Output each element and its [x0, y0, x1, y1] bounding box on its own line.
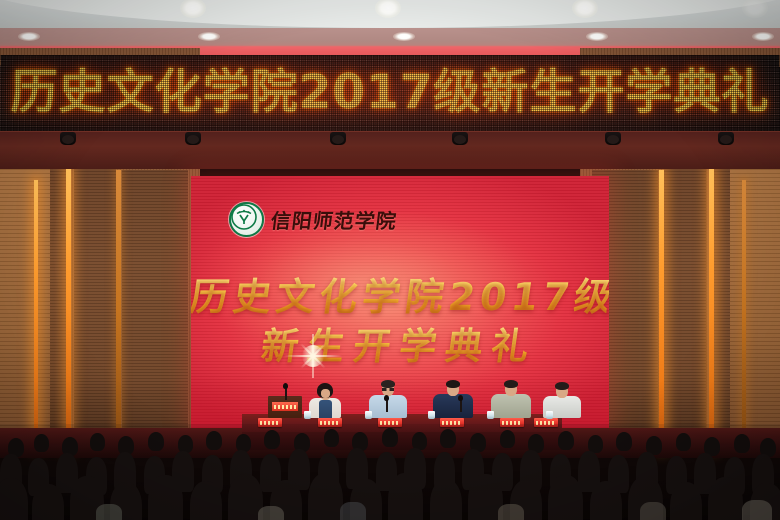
audience-head	[90, 433, 105, 451]
stage-spotlight-icon	[718, 132, 734, 145]
stage-spotlight-icon	[605, 132, 621, 145]
ceiling-downlight-icon	[198, 32, 220, 41]
audience-head	[0, 478, 28, 520]
backdrop-title-line1: 历史文化学院2017级	[191, 266, 609, 321]
wall-light-strip	[66, 168, 71, 450]
audience-head	[734, 434, 750, 453]
university-emblem-icon	[229, 202, 264, 237]
banner-support-beam	[0, 131, 780, 169]
audience-head	[264, 430, 280, 449]
eyeglasses-icon	[382, 388, 394, 391]
wall-light-strip	[116, 170, 121, 450]
ceiling-downlight-icon	[586, 32, 608, 41]
water-cup	[304, 411, 311, 419]
institution-name: 信阳师范学院	[269, 205, 399, 234]
audience-shoulder	[340, 502, 366, 520]
panel-member-4	[490, 378, 532, 418]
audience-head	[430, 479, 462, 520]
audience-head	[148, 475, 183, 520]
stage-spotlight-icon	[60, 132, 76, 145]
audience-head	[676, 433, 691, 451]
microphone-icon	[386, 399, 388, 412]
ceiling-downlight-icon	[18, 32, 40, 41]
panel-member-hair	[555, 382, 569, 390]
microphone-icon	[460, 399, 462, 412]
audience-head	[324, 429, 339, 447]
stage-spotlight-icon	[185, 132, 201, 145]
wall-panel	[122, 170, 188, 448]
audience-head	[388, 473, 423, 520]
panel-member-hair	[504, 380, 518, 388]
audience-head	[616, 432, 632, 451]
water-cup	[487, 411, 494, 419]
wall-light-strip	[659, 170, 664, 450]
audience-head	[34, 434, 49, 452]
led-banner-text: 历史文化学院2017级新生开学典礼	[0, 63, 780, 123]
panel-member-3	[432, 378, 474, 418]
ceiling-downlight-icon	[393, 32, 415, 41]
audience-head	[708, 477, 743, 520]
audience-shoulder	[742, 500, 772, 520]
wall-panel	[664, 168, 706, 448]
wall-light-strip	[34, 180, 38, 448]
lectern-nameplate	[272, 402, 298, 411]
audience-head	[558, 431, 574, 450]
audience-head	[548, 475, 583, 520]
panel-member-1	[308, 382, 342, 418]
water-cup	[365, 411, 372, 419]
panel-member-torso	[433, 394, 473, 418]
audience-shoulder	[640, 502, 666, 520]
ceiling-downlight-icon	[752, 32, 774, 41]
audience-shoulder	[258, 506, 284, 520]
wall-light-strip	[709, 168, 714, 450]
audience-head	[670, 482, 702, 520]
wall-light-strip	[742, 180, 746, 448]
audience-head	[440, 429, 456, 448]
panel-member-hair	[381, 380, 395, 388]
backdrop-title-line2: 新生开学典礼	[191, 316, 609, 370]
audience-head	[32, 484, 64, 520]
audience-crowd	[0, 424, 780, 520]
panel-member-face	[321, 389, 330, 398]
stage-spotlight-icon	[330, 132, 346, 145]
audience-head	[590, 481, 622, 520]
audience-head	[148, 432, 164, 451]
audience-head	[500, 430, 515, 448]
panel-member-hair	[446, 380, 460, 388]
auditorium-photo: 历史文化学院2017级新生开学典礼 信阳师范学院 历史文化学院2	[0, 0, 780, 520]
water-cup	[428, 411, 435, 419]
panel-member-torso	[491, 394, 531, 418]
panel-member-inner-top	[319, 400, 332, 418]
wall-panel	[74, 168, 116, 448]
audience-head	[190, 481, 222, 520]
audience-shoulder	[96, 504, 122, 520]
water-cup	[546, 411, 553, 419]
audience-head	[382, 428, 398, 447]
microphone-icon	[285, 387, 287, 400]
led-marquee-banner: 历史文化学院2017级新生开学典礼	[0, 55, 780, 133]
institution-logo: 信阳师范学院	[229, 202, 397, 237]
audience-head	[308, 473, 343, 520]
audience-shoulder	[498, 504, 524, 520]
audience-head	[206, 431, 222, 450]
stage-spotlight-icon	[452, 132, 468, 145]
